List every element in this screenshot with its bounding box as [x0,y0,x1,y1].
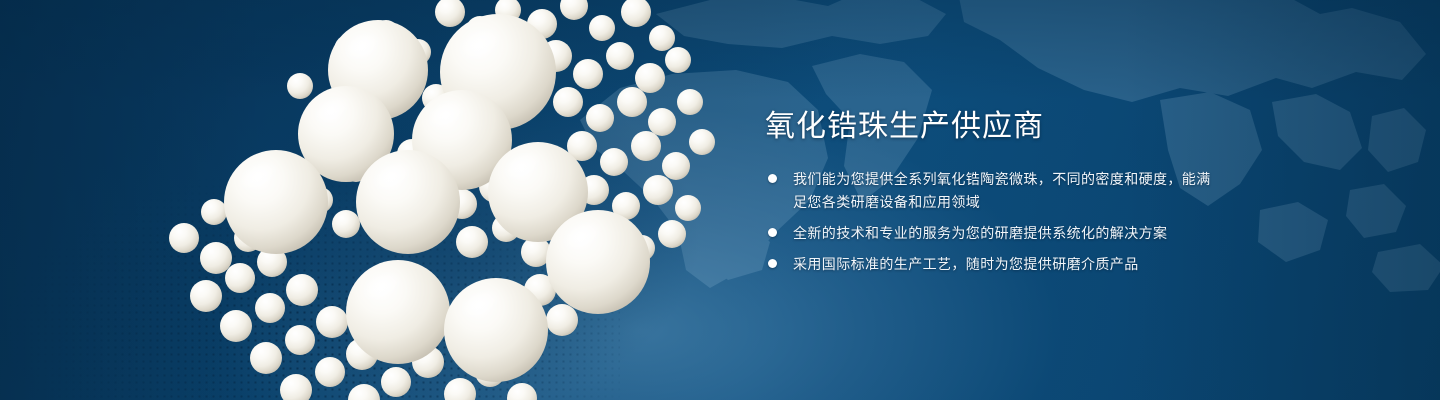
feature-list: 我们能为您提供全系列氧化锆陶瓷微珠，不同的密度和硬度，能满足您各类研磨设备和应用… [765,168,1385,276]
list-item-text: 采用国际标准的生产工艺，随时为您提供研磨介质产品 [793,253,1139,276]
list-item: 采用国际标准的生产工艺，随时为您提供研磨介质产品 [765,253,1385,276]
list-item-text: 全新的技术和专业的服务为您的研磨提供系统化的解决方案 [793,222,1167,245]
list-item: 我们能为您提供全系列氧化锆陶瓷微珠，不同的密度和硬度，能满足您各类研磨设备和应用… [765,168,1385,214]
banner-copy: 氧化锆珠生产供应商 我们能为您提供全系列氧化锆陶瓷微珠，不同的密度和硬度，能满足… [765,108,1385,276]
hero-banner: 氧化锆珠生产供应商 我们能为您提供全系列氧化锆陶瓷微珠，不同的密度和硬度，能满足… [0,0,1440,400]
bullet-dot-icon [768,228,777,237]
page-title: 氧化锆珠生产供应商 [765,108,1385,146]
list-item-text: 我们能为您提供全系列氧化锆陶瓷微珠，不同的密度和硬度，能满足您各类研磨设备和应用… [793,168,1213,214]
list-item: 全新的技术和专业的服务为您的研磨提供系统化的解决方案 [765,222,1385,245]
bullet-dot-icon [768,174,777,183]
bullet-dot-icon [768,259,777,268]
